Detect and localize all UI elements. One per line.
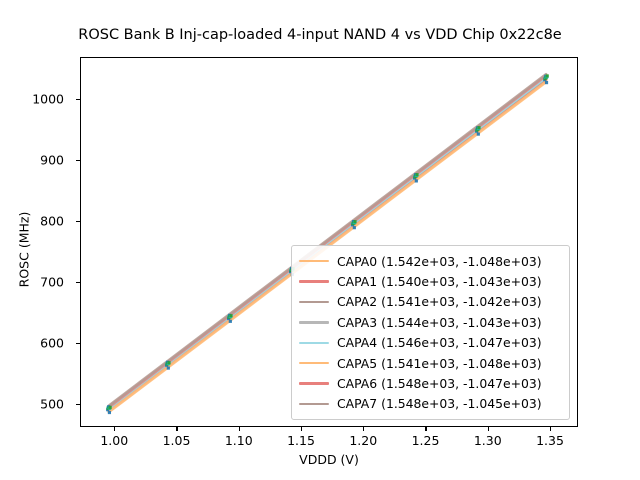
legend-color-swatch (299, 301, 329, 303)
x-tick-mark (363, 427, 364, 431)
legend-color-swatch (299, 280, 329, 282)
y-tick-mark (76, 282, 80, 283)
data-marker (477, 133, 480, 136)
data-marker (229, 314, 232, 317)
data-marker (167, 366, 170, 369)
y-tick-mark (76, 221, 80, 222)
legend-color-swatch (299, 382, 329, 384)
legend: CAPA0 (1.542e+03, -1.048e+03)CAPA1 (1.54… (291, 245, 570, 420)
x-tick-label: 1.15 (271, 433, 331, 448)
legend-item-capa3[interactable]: CAPA3 (1.544e+03, -1.043e+03) (299, 312, 563, 332)
legend-label: CAPA2 (1.541e+03, -1.042e+03) (337, 294, 542, 309)
data-marker (108, 411, 111, 414)
legend-color-swatch (299, 362, 329, 364)
legend-color-swatch (299, 260, 329, 262)
legend-label: CAPA3 (1.544e+03, -1.043e+03) (337, 315, 542, 330)
y-tick-label: 700 (0, 274, 64, 289)
x-tick-label: 1.25 (395, 433, 455, 448)
data-marker (109, 406, 112, 409)
y-tick-label: 500 (0, 396, 64, 411)
legend-label: CAPA6 (1.548e+03, -1.047e+03) (337, 376, 542, 391)
data-marker (353, 226, 356, 229)
x-tick-label: 1.20 (333, 433, 393, 448)
y-axis-label: ROSC (MHz) (17, 180, 32, 320)
x-tick-label: 1.00 (84, 433, 144, 448)
x-axis-label: VDDD (V) (80, 452, 578, 467)
chart-title: ROSC Bank B Inj-cap-loaded 4-input NAND … (0, 27, 640, 43)
data-marker (477, 126, 480, 129)
legend-label: CAPA0 (1.542e+03, -1.048e+03) (337, 254, 542, 269)
x-tick-label: 1.10 (209, 433, 269, 448)
legend-label: CAPA7 (1.548e+03, -1.045e+03) (337, 396, 542, 411)
x-tick-label: 1.35 (520, 433, 580, 448)
x-tick-label: 1.05 (146, 433, 206, 448)
x-tick-mark (114, 427, 115, 431)
legend-label: CAPA4 (1.546e+03, -1.047e+03) (337, 335, 542, 350)
legend-item-capa1[interactable]: CAPA1 (1.540e+03, -1.043e+03) (299, 271, 563, 291)
y-tick-mark (76, 404, 80, 405)
data-marker (229, 320, 232, 323)
x-tick-label: 1.30 (458, 433, 518, 448)
y-tick-mark (76, 160, 80, 161)
x-tick-mark (488, 427, 489, 431)
legend-color-swatch (299, 321, 329, 323)
x-tick-mark (239, 427, 240, 431)
data-marker (545, 81, 548, 84)
data-marker (415, 173, 418, 176)
data-marker (353, 220, 356, 223)
y-tick-label: 1000 (0, 91, 64, 106)
x-tick-mark (301, 427, 302, 431)
y-tick-mark (76, 99, 80, 100)
legend-color-swatch (299, 342, 329, 344)
legend-label: CAPA5 (1.541e+03, -1.048e+03) (337, 356, 542, 371)
y-tick-label: 900 (0, 152, 64, 167)
x-tick-mark (425, 427, 426, 431)
x-tick-mark (176, 427, 177, 431)
data-marker (415, 179, 418, 182)
legend-item-capa4[interactable]: CAPA4 (1.546e+03, -1.047e+03) (299, 333, 563, 353)
data-marker (546, 74, 549, 77)
legend-item-capa0[interactable]: CAPA0 (1.542e+03, -1.048e+03) (299, 251, 563, 271)
x-tick-mark (550, 427, 551, 431)
y-tick-label: 600 (0, 335, 64, 350)
y-tick-mark (76, 343, 80, 344)
legend-item-capa5[interactable]: CAPA5 (1.541e+03, -1.048e+03) (299, 353, 563, 373)
legend-label: CAPA1 (1.540e+03, -1.043e+03) (337, 274, 542, 289)
legend-item-capa2[interactable]: CAPA2 (1.541e+03, -1.042e+03) (299, 292, 563, 312)
matplotlib-figure: ROSC Bank B Inj-cap-loaded 4-input NAND … (0, 0, 640, 480)
legend-color-swatch (299, 403, 329, 405)
legend-item-capa6[interactable]: CAPA6 (1.548e+03, -1.047e+03) (299, 373, 563, 393)
legend-item-capa7[interactable]: CAPA7 (1.548e+03, -1.045e+03) (299, 394, 563, 414)
y-tick-label: 800 (0, 213, 64, 228)
data-marker (167, 361, 170, 364)
